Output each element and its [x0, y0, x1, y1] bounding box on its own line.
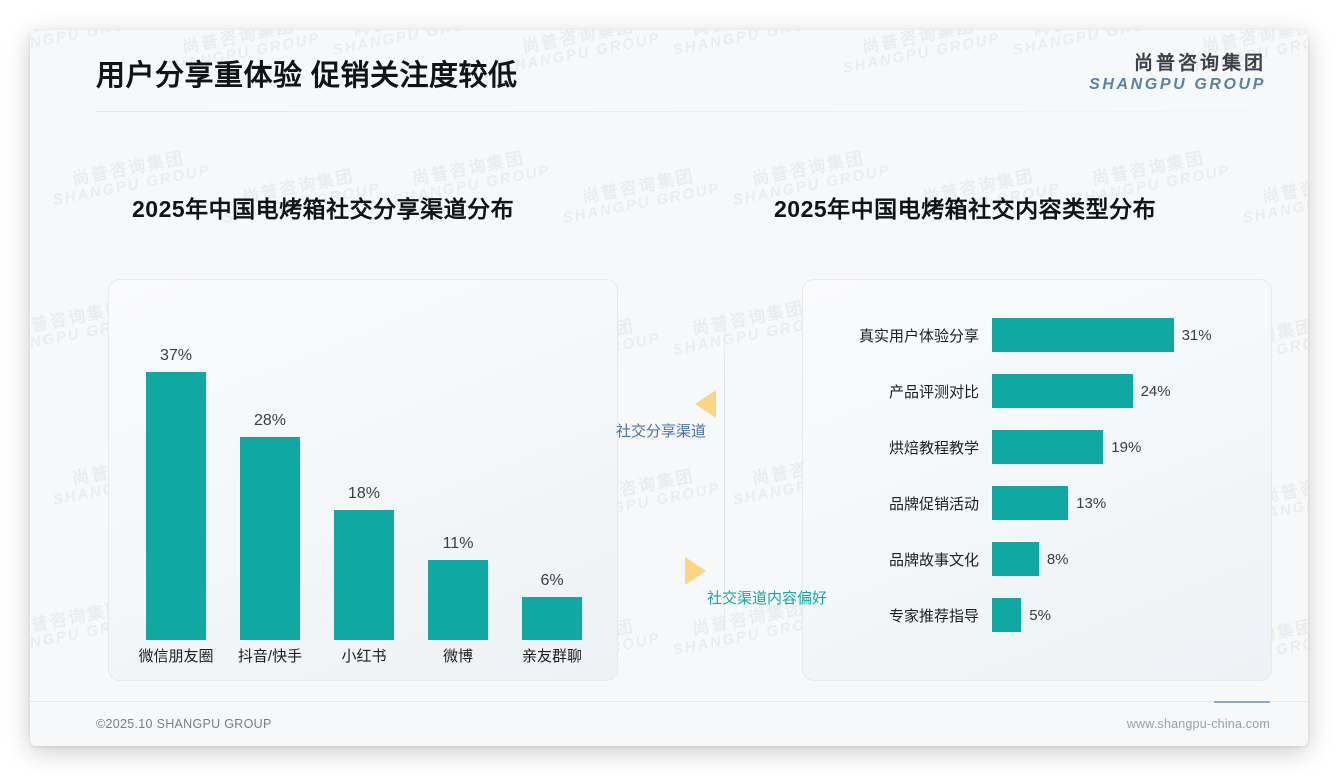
column-bar[interactable]: [334, 510, 394, 641]
column-category-label: 小红书: [312, 645, 416, 666]
column-value-label: 18%: [348, 485, 380, 503]
bar-value-label: 13%: [1068, 495, 1106, 512]
bar-row[interactable]: 烘焙教程教学19%: [820, 430, 1270, 464]
column-category-label: 微信朋友圈: [124, 645, 228, 666]
bar-category-label: 专家推荐指导: [820, 605, 992, 626]
bar-value-label: 5%: [1021, 607, 1051, 624]
right-chart-title: 2025年中国电烤箱社交内容类型分布: [774, 190, 1156, 224]
social-share-channel-column-chart: 37%微信朋友圈28%抖音/快手18%小红书11%微博6%亲友群聊: [138, 310, 608, 640]
logo-english-text: SHANGPU GROUP: [1089, 76, 1266, 94]
column-value-label: 28%: [254, 412, 286, 430]
bar-fill[interactable]: [992, 430, 1103, 464]
annotation-2-label: 社交渠道内容偏好: [707, 587, 827, 608]
bar-category-label: 产品评测对比: [820, 381, 992, 402]
brand-logo: 尚普咨询集团 SHANGPU GROUP: [1089, 48, 1266, 94]
column-group[interactable]: 18%: [334, 310, 394, 640]
column-category-label: 抖音/快手: [218, 645, 322, 666]
bar-fill[interactable]: [992, 542, 1039, 576]
column-value-label: 37%: [160, 347, 192, 365]
triangle-right-icon: [685, 557, 706, 585]
column-value-label: 11%: [443, 535, 474, 553]
bar-fill[interactable]: [992, 598, 1021, 632]
left-chart-title: 2025年中国电烤箱社交分享渠道分布: [132, 190, 514, 224]
column-bar[interactable]: [240, 437, 300, 640]
bar-value-label: 19%: [1103, 439, 1141, 456]
footer-website[interactable]: www.shangpu-china.com: [1127, 717, 1270, 731]
logo-chinese-text: 尚普咨询集团: [1089, 48, 1266, 75]
bar-row[interactable]: 专家推荐指导5%: [820, 598, 1270, 632]
bar-row[interactable]: 品牌促销活动13%: [820, 486, 1270, 520]
annotation-1-label: 社交分享渠道: [616, 420, 706, 441]
column-category-label: 亲友群聊: [500, 645, 604, 666]
watermark-text: 尚普咨询集团SHANGPU GROUP: [1238, 163, 1308, 227]
social-content-type-bar-chart: 真实用户体验分享31%产品评测对比24%烘焙教程教学19%品牌促销活动13%品牌…: [820, 318, 1270, 658]
column-bar[interactable]: [522, 597, 582, 641]
watermark-text: 尚普咨询集团SHANGPU GROUP: [558, 163, 722, 227]
column-value-label: 6%: [540, 572, 563, 590]
column-bar[interactable]: [428, 560, 488, 640]
header-divider: [96, 111, 1271, 112]
bar-fill[interactable]: [992, 318, 1174, 352]
bar-fill[interactable]: [992, 486, 1068, 520]
bar-value-label: 8%: [1039, 551, 1069, 568]
bar-row[interactable]: 真实用户体验分享31%: [820, 318, 1270, 352]
column-group[interactable]: 11%: [428, 310, 488, 640]
bar-category-label: 真实用户体验分享: [820, 325, 992, 346]
column-group[interactable]: 28%: [240, 310, 300, 640]
column-group[interactable]: 6%: [522, 310, 582, 640]
triangle-left-icon: [695, 390, 716, 418]
column-category-label: 微博: [406, 645, 510, 666]
column-bar[interactable]: [146, 372, 206, 640]
column-group[interactable]: 37%: [146, 310, 206, 640]
bar-category-label: 品牌促销活动: [820, 493, 992, 514]
bar-category-label: 烘焙教程教学: [820, 437, 992, 458]
bar-row[interactable]: 产品评测对比24%: [820, 374, 1270, 408]
bar-fill[interactable]: [992, 374, 1133, 408]
bar-row[interactable]: 品牌故事文化8%: [820, 542, 1270, 576]
footer-copyright: ©2025.10 SHANGPU GROUP: [96, 717, 272, 731]
footer-accent-bar: [1214, 701, 1270, 703]
bar-value-label: 24%: [1133, 383, 1171, 400]
bar-value-label: 31%: [1174, 327, 1212, 344]
bar-category-label: 品牌故事文化: [820, 549, 992, 570]
slide-footer: ©2025.10 SHANGPU GROUP www.shangpu-china…: [30, 701, 1308, 746]
page-title: 用户分享重体验 促销关注度较低: [96, 52, 518, 94]
slide-header: 用户分享重体验 促销关注度较低 尚普咨询集团 SHANGPU GROUP: [30, 30, 1308, 112]
slide-canvas: 尚普咨询集团SHANGPU GROUP尚普咨询集团SHANGPU GROUP尚普…: [30, 30, 1308, 746]
